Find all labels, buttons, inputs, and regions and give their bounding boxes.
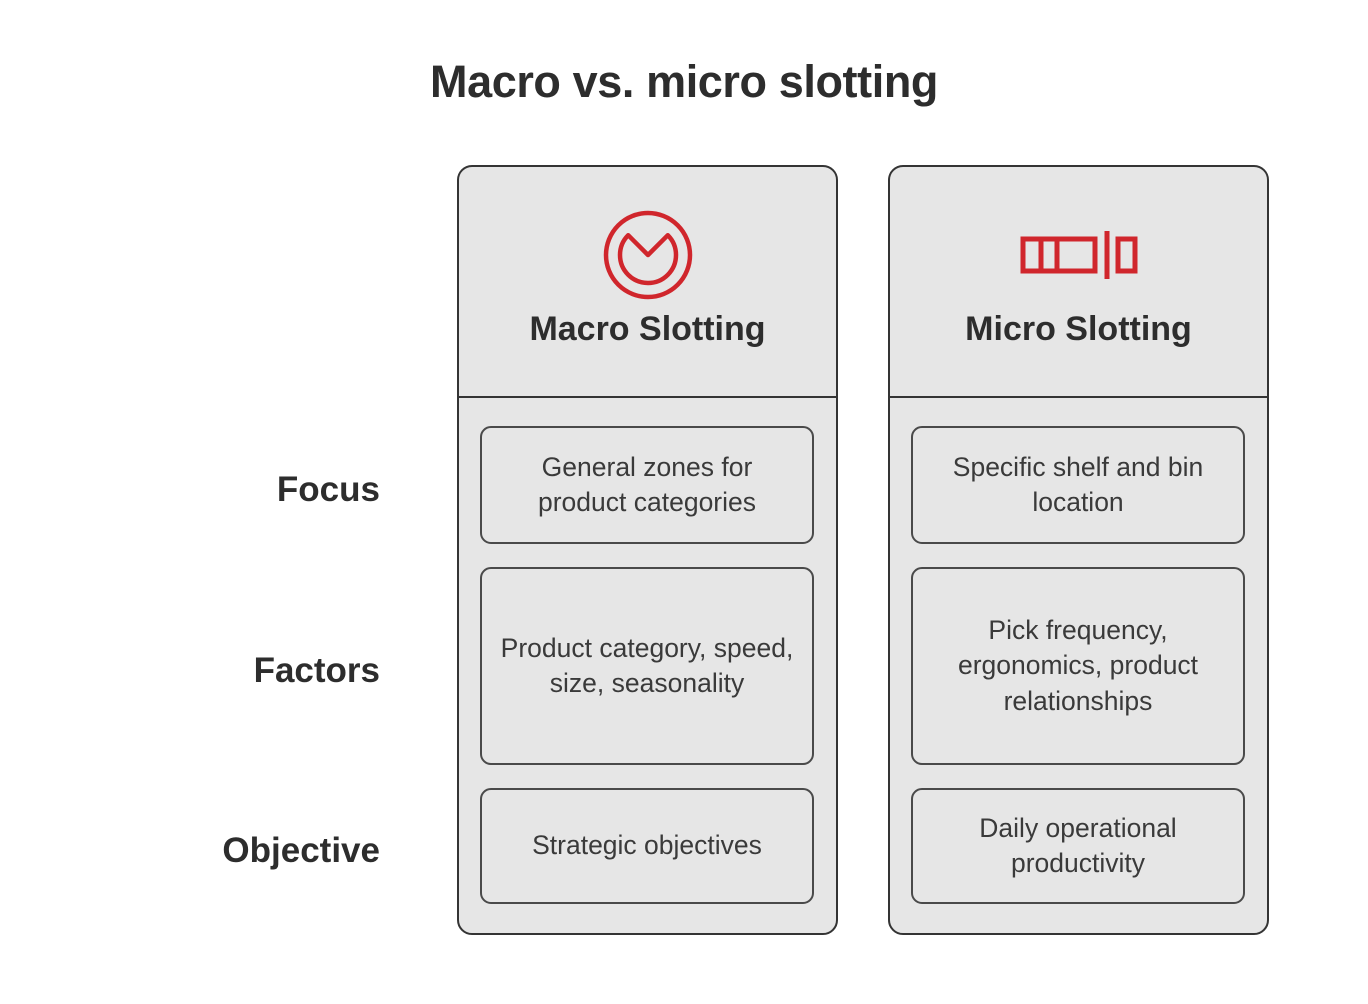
row-label-factors: Factors <box>60 651 380 691</box>
cell-macro-objective: Strategic objectives <box>480 788 814 904</box>
row-label-objective: Objective <box>60 831 380 871</box>
card-micro-body: Specific shelf and bin location Pick fre… <box>890 398 1267 933</box>
row-label-focus: Focus <box>60 470 380 510</box>
cell-macro-factors: Product category, speed, size, seasonali… <box>480 567 814 765</box>
card-macro-header: Macro Slotting <box>459 167 836 398</box>
card-macro-title: Macro Slotting <box>529 309 765 350</box>
card-micro-title: Micro Slotting <box>965 309 1192 350</box>
cell-micro-factors: Pick frequency, ergonomics, product rela… <box>911 567 1245 765</box>
shelf-bins-icon <box>1019 207 1139 303</box>
cell-micro-objective: Daily operational productivity <box>911 788 1245 904</box>
card-micro-slotting: Micro Slotting Specific shelf and bin lo… <box>888 165 1269 935</box>
pie-chart-circle-icon <box>601 207 695 303</box>
card-micro-header: Micro Slotting <box>890 167 1267 398</box>
cell-macro-focus: General zones for product categories <box>480 426 814 544</box>
cell-micro-focus: Specific shelf and bin location <box>911 426 1245 544</box>
card-macro-slotting: Macro Slotting General zones for product… <box>457 165 838 935</box>
page-title: Macro vs. micro slotting <box>0 55 1368 109</box>
infographic-canvas: Macro vs. micro slotting Focus Factors O… <box>0 0 1368 1004</box>
card-macro-body: General zones for product categories Pro… <box>459 398 836 933</box>
